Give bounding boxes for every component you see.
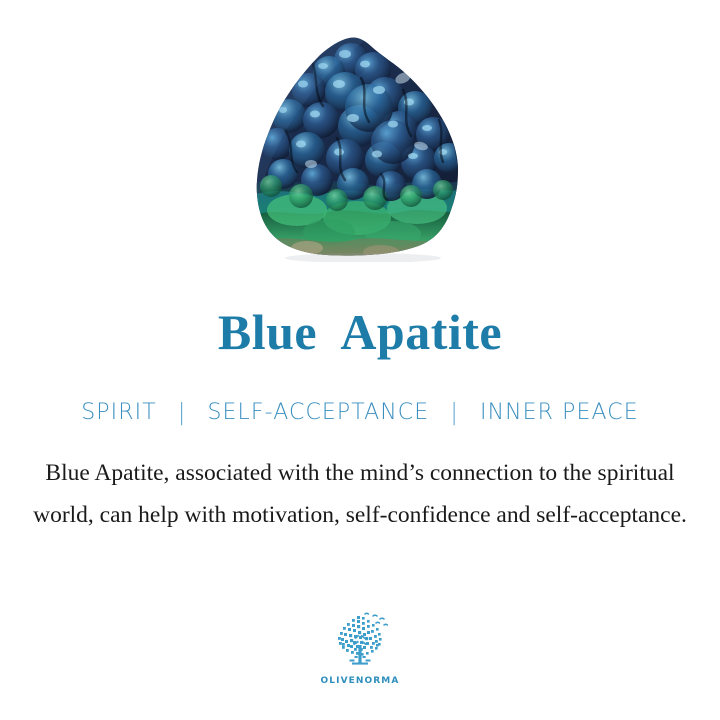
keyword-separator: | [165,397,200,429]
keyword-separator: | [437,397,472,429]
crystal-keywords: SPIRIT | SELF-ACCEPTANCE | INNER PEACE [0,398,720,428]
keyword-spirit: SPIRIT [81,398,157,428]
crystal-info-card: Blue Apatite SPIRIT | SELF-ACCEPTANCE | … [0,0,720,720]
keyword-self-acceptance: SELF-ACCEPTANCE [207,398,429,428]
keyword-inner-peace: INNER PEACE [480,398,639,428]
brand-logo: OLIVENORMA [0,612,720,686]
crystal-title: Blue Apatite [0,303,720,361]
crystal-description: Blue Apatite, associated with the mind’s… [30,452,690,536]
blue-apatite-mineral-specimen [253,34,467,262]
tree-logo-icon [329,612,391,674]
specimen-image-container [0,22,720,262]
brand-wordmark: OLIVENORMA [321,676,400,686]
